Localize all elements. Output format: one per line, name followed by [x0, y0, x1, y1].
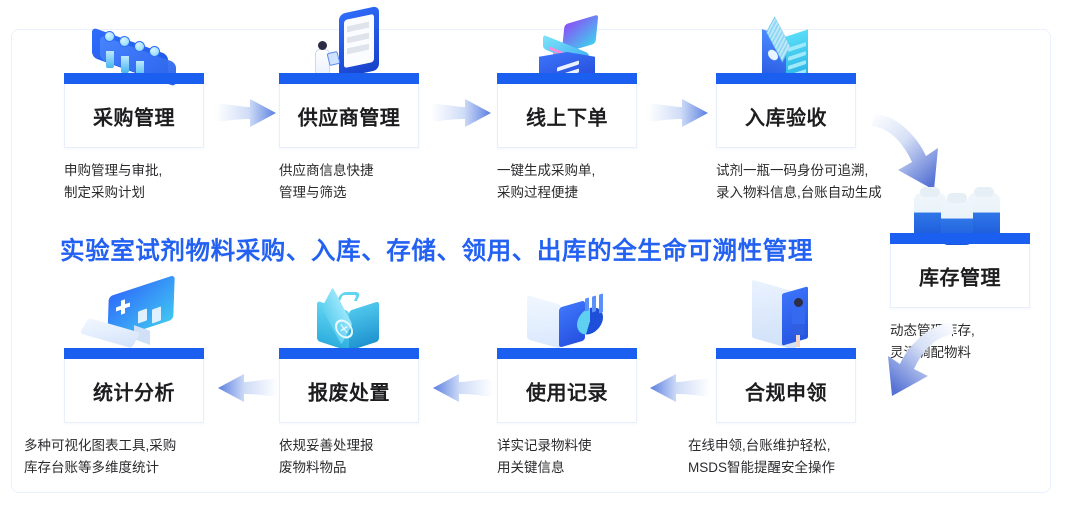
flow-node-title: 入库验收	[717, 101, 855, 130]
flow-node-title: 合规申领	[717, 376, 855, 405]
flow-node-description: 详实记录物料使 用关键信息	[497, 435, 637, 479]
card-body: 合规申领	[716, 359, 856, 423]
card-body: 采购管理	[64, 84, 204, 148]
card-body: 供应商管理	[279, 84, 419, 148]
flow-node-description: 在线申领,台账维护轻松, MSDS智能提醒安全操作	[688, 435, 918, 479]
flow-diagram-canvas: 采购管理 申购管理与审批, 制定采购计划	[0, 0, 1073, 518]
arrow-scrap-to-statistics	[216, 373, 278, 408]
flow-node-statistical-analysis[interactable]: 统计分析 多种可视化图表工具,采购 库存台账等多维度统计	[64, 348, 204, 479]
arrow-ordering-to-inbound	[648, 98, 710, 133]
arrow-purchase-to-supplier	[216, 98, 278, 133]
flow-node-title: 线上下单	[498, 101, 636, 130]
flow-node-title: 统计分析	[65, 376, 203, 405]
flow-node-usage-record[interactable]: 使用记录 详实记录物料使 用关键信息	[497, 348, 637, 479]
flow-node-description: 多种可视化图表工具,采购 库存台账等多维度统计	[24, 435, 239, 479]
card-body: 使用记录	[497, 359, 637, 423]
card-accent-bar	[716, 73, 856, 84]
flow-node-title: 供应商管理	[280, 101, 418, 130]
flow-node-title: 采购管理	[65, 101, 203, 130]
card-accent-bar	[716, 348, 856, 359]
flow-node-description: 申购管理与审批, 制定采购计划	[64, 160, 204, 204]
flow-node-title: 报废处置	[280, 376, 418, 405]
flow-node-description: 依规妥善处理报 废物料物品	[279, 435, 419, 479]
flow-node-title: 库存管理	[891, 261, 1029, 290]
flow-node-title: 使用记录	[498, 376, 636, 405]
flow-node-supplier-management[interactable]: 供应商管理 供应商信息快捷 管理与筛选	[279, 73, 419, 204]
flow-node-scrap-disposal[interactable]: ✕ 报废处置 依规妥善处理报 废物料物品	[279, 348, 419, 479]
card-accent-bar	[64, 73, 204, 84]
card-accent-bar	[279, 348, 419, 359]
flow-node-description: 供应商信息快捷 管理与筛选	[279, 160, 419, 204]
headline-banner: 实验室试剂物料采购、入库、存储、领用、出库的全生命可溯性管理	[60, 232, 813, 267]
arrow-inbound-to-inventory	[872, 112, 956, 203]
card-accent-bar	[497, 73, 637, 84]
card-accent-bar	[890, 233, 1030, 244]
flow-node-online-ordering[interactable]: 线上下单 一键生成采购单, 采购过程便捷	[497, 73, 637, 204]
flow-node-inbound-acceptance[interactable]: 入库验收 试剂一瓶一码身份可追溯, 录入物料信息,台账自动生成	[716, 73, 856, 204]
card-accent-bar	[279, 73, 419, 84]
card-body: 库存管理	[890, 244, 1030, 308]
flow-node-description: 一键生成采购单, 采购过程便捷	[497, 160, 637, 204]
card-body: 入库验收	[716, 84, 856, 148]
arrow-supplier-to-ordering	[431, 98, 493, 133]
card-body: 线上下单	[497, 84, 637, 148]
arrow-requisition-to-usage	[648, 373, 710, 408]
flow-node-compliant-requisition[interactable]: 合规申领 在线申领,台账维护轻松, MSDS智能提醒安全操作	[716, 348, 856, 479]
card-body: 报废处置	[279, 359, 419, 423]
arrow-usage-to-scrap	[431, 373, 493, 408]
flow-node-purchase-management[interactable]: 采购管理 申购管理与审批, 制定采购计划	[64, 73, 204, 204]
card-accent-bar	[64, 348, 204, 359]
card-accent-bar	[497, 348, 637, 359]
arrow-inventory-to-requisition	[862, 320, 954, 405]
card-body: 统计分析	[64, 359, 204, 423]
